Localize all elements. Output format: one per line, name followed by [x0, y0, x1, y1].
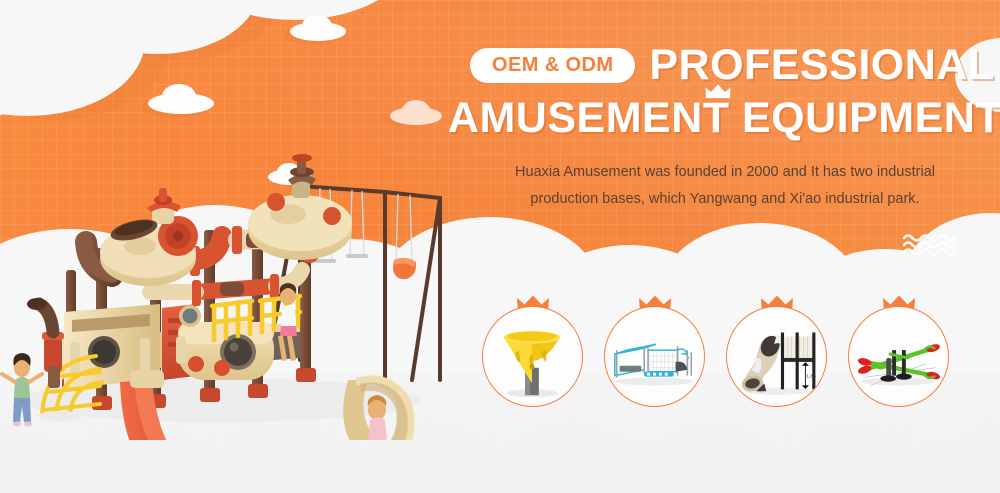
description-line-1: Huaxia Amusement was founded in 2000 and… — [470, 159, 980, 186]
thumbnail-ring — [848, 306, 949, 407]
product-thumbnail-list: 1.84 — [482, 306, 949, 407]
steampunk-playground-illustration — [0, 80, 470, 440]
valve-dome-right — [248, 154, 352, 260]
svg-text:1.84: 1.84 — [806, 374, 816, 380]
headline-line-2: AMUSEMENT EQUIPMENT — [448, 97, 1000, 141]
description-line-2: production bases, which Yangwang and Xi'… — [470, 186, 980, 213]
promo-banner: OEM & ODM PROFESSIONAL AMUSEMENT EQUIPME… — [0, 0, 1000, 493]
thumbnail-blue-fitness-playground[interactable] — [604, 306, 705, 407]
blue-fitness-playground-icon — [605, 307, 704, 406]
thumbnail-ring — [482, 306, 583, 407]
thumbnail-ring: 1.84 — [726, 306, 827, 407]
wave-lines-icon — [903, 232, 959, 258]
thumbnail-ring — [604, 306, 705, 407]
headline-row-2: AMUSEMENT EQUIPMENT — [470, 97, 980, 141]
valve-dome-left — [100, 188, 198, 286]
crown-icon — [705, 84, 731, 99]
headline-block: OEM & ODM PROFESSIONAL AMUSEMENT EQUIPME… — [470, 44, 980, 212]
green-seesaw-icon — [849, 307, 948, 406]
playground-artwork — [0, 80, 470, 440]
thumbnail-green-seesaw[interactable] — [848, 306, 949, 407]
swing-seats — [314, 254, 416, 279]
left-pipe-post — [27, 298, 64, 388]
yellow-bowl-spinner-icon — [483, 307, 582, 406]
tube-slide-tower-icon: 1.84 — [727, 307, 826, 406]
thumbnail-tube-slide-tower[interactable]: 1.84 — [726, 306, 827, 407]
child-left — [2, 353, 42, 427]
description-text: Huaxia Amusement was founded in 2000 and… — [470, 159, 980, 213]
oem-odm-badge: OEM & ODM — [470, 48, 635, 83]
headline-row-1: OEM & ODM PROFESSIONAL — [470, 44, 980, 88]
headline-line-1: PROFESSIONAL — [649, 44, 994, 88]
thumbnail-yellow-bowl-spinner[interactable] — [482, 306, 583, 407]
